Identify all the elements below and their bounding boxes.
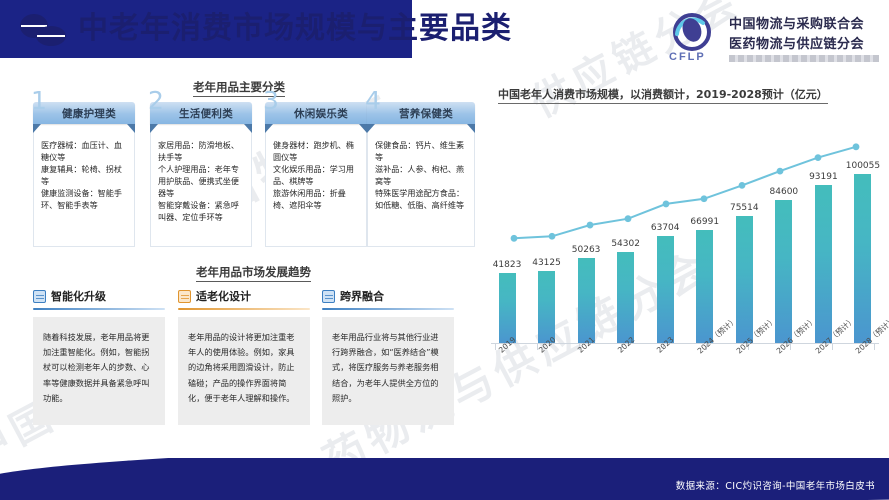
- bar-value-label: 93191: [809, 172, 838, 182]
- pill-logo-icon: [18, 14, 70, 46]
- bar: [499, 273, 516, 344]
- trend-card[interactable]: 智能化升级 随着科技发展，老年用品将更加注重智能化。例如，智能拐杖可以检测老年人…: [33, 286, 165, 425]
- bar-value-label: 66991: [690, 217, 719, 227]
- chart-bar-column: 43125: [535, 104, 559, 344]
- x-tick-label: 2023: [653, 346, 677, 394]
- category-number: 1: [31, 88, 47, 113]
- trend-body: 老年用品的设计将更加注重老年人的使用体验。例如，家具的边角将采用圆滑设计，防止磕…: [178, 317, 310, 425]
- ribbon-tab-left: [33, 124, 41, 133]
- category-body: 保健食品：钙片、维生素等滋补品：人参、枸杞、燕窝等特殊医学用途配方食品：如低糖、…: [367, 124, 475, 247]
- trend-title: 智能化升级: [51, 288, 106, 304]
- data-source: 数据来源：CIC灼识咨询-中国老年市场白皮书: [676, 478, 875, 492]
- category-text: 家居用品：防滑地板、扶手等个人护理用品：老年专用护肤品、便携式坐便器等智能穿戴设…: [158, 140, 244, 224]
- bar-value-label: 63704: [651, 223, 680, 233]
- chart-bar-column: 66991: [693, 104, 717, 344]
- category-number: 2: [148, 88, 164, 113]
- trend-header: 智能化升级: [33, 286, 165, 306]
- bar: [617, 252, 634, 344]
- trend-body: 随着科技发展，老年用品将更加注重智能化。例如，智能拐杖可以检测老年人的步数、心率…: [33, 317, 165, 425]
- ribbon-tab-right: [359, 124, 367, 133]
- chart-bar-column: 54302: [614, 104, 638, 344]
- bar: [578, 258, 595, 344]
- bar-value-label: 54302: [611, 239, 640, 249]
- trend-text: 随着科技发展，老年用品将更加注重智能化。例如，智能拐杖可以检测老年人的步数、心率…: [43, 330, 155, 406]
- category-card[interactable]: 2 生活便利类 家居用品：防滑地板、扶手等个人护理用品：老年专用护肤品、便携式坐…: [150, 102, 252, 247]
- category-title: 营养保健类: [389, 106, 453, 121]
- trend-text: 老年用品行业将与其他行业进行跨界融合，如“医养结合”模式，将医疗服务与养老服务相…: [332, 330, 444, 406]
- logo-english-strip: [729, 55, 879, 62]
- calendar-icon: [178, 290, 191, 303]
- trend-title: 适老化设计: [196, 288, 251, 304]
- category-card[interactable]: 4 营养保健类 保健食品：钙片、维生素等滋补品：人参、枸杞、燕窝等特殊医学用途配…: [367, 102, 475, 247]
- trend-header: 跨界融合: [322, 286, 454, 306]
- cflp-abbr: CFLP: [669, 51, 706, 63]
- category-title: 休闲娱乐类: [284, 106, 348, 121]
- category-number: 4: [365, 88, 381, 113]
- bar-value-label: 84600: [770, 187, 799, 197]
- chart-bar-column: 75514: [732, 104, 756, 344]
- trend-divider: [178, 308, 310, 310]
- category-header: 生活便利类: [150, 102, 252, 124]
- ribbon-tab-left: [150, 124, 158, 133]
- category-header: 营养保健类: [367, 102, 475, 124]
- bar-value-label: 100055: [846, 161, 880, 171]
- slide-root: 中国物流与 药物流与供应链分会 供应链分会 中国物流 中老年消费市场规模与主要品…: [0, 0, 889, 500]
- trend-text: 老年用品的设计将更加注重老年人的使用体验。例如，家具的边角将采用圆滑设计，防止磕…: [188, 330, 300, 406]
- trend-divider: [33, 308, 165, 310]
- footer: 数据来源：CIC灼识咨询-中国老年市场白皮书: [0, 458, 889, 500]
- ribbon-tab-right: [127, 124, 135, 133]
- chart-bar-column: 84600: [772, 104, 796, 344]
- x-tick-label: 2021: [574, 346, 598, 394]
- x-axis-labels: 201920202021202220232024（预计）2025（预计）2026…: [495, 346, 875, 394]
- trend-divider: [322, 308, 454, 310]
- category-text: 保健食品：钙片、维生素等滋补品：人参、枸杞、燕窝等特殊医学用途配方食品：如低糖、…: [375, 140, 467, 212]
- category-body: 家居用品：防滑地板、扶手等个人护理用品：老年专用护肤品、便携式坐便器等智能穿戴设…: [150, 124, 252, 247]
- bar: [736, 216, 753, 345]
- trend-body: 老年用品行业将与其他行业进行跨界融合，如“医养结合”模式，将医疗服务与养老服务相…: [322, 317, 454, 425]
- ribbon-tab-left: [265, 124, 273, 133]
- cflp-logo: CFLP 中国物流与采购联合会 医药物流与供应链分会: [665, 12, 879, 62]
- bar-value-label: 41823: [493, 260, 522, 270]
- x-tick-label: 2026（预计）: [772, 346, 796, 394]
- category-body: 健身器材：跑步机、椭圆仪等文化娱乐用品：学习用品、棋牌等旅游休闲用品：折叠椅、遮…: [265, 124, 367, 247]
- logo-line-2: 医药物流与供应链分会: [729, 33, 879, 52]
- page-title: 中老年消费市场规模与主要品类: [78, 9, 512, 49]
- trend-card[interactable]: 适老化设计 老年用品的设计将更加注重老年人的使用体验。例如，家具的边角将采用圆滑…: [178, 286, 310, 425]
- market-size-chart: 4182343125502635430263704669917551484600…: [487, 104, 879, 394]
- category-header: 健康护理类: [33, 102, 135, 124]
- bar-value-label: 50263: [572, 245, 601, 255]
- category-title: 生活便利类: [169, 106, 233, 121]
- x-tick-label: 2020: [535, 346, 559, 394]
- chart-bar-column: 93191: [811, 104, 835, 344]
- trend-header: 适老化设计: [178, 286, 310, 306]
- category-text: 健身器材：跑步机、椭圆仪等文化娱乐用品：学习用品、棋牌等旅游休闲用品：折叠椅、遮…: [273, 140, 359, 212]
- x-tick-label: 2027（预计）: [811, 346, 835, 394]
- ribbon-tab-right: [467, 124, 475, 133]
- x-tick-label: 2028（预计）: [851, 346, 875, 394]
- logo-line-1: 中国物流与采购联合会: [729, 13, 879, 32]
- chart-bar-column: 50263: [574, 104, 598, 344]
- chart-plot-area: 4182343125502635430263704669917551484600…: [495, 104, 875, 344]
- bar: [815, 185, 832, 344]
- category-card[interactable]: 1 健康护理类 医疗器械：血压计、血糖仪等康复辅具：轮椅、拐杖等健康监测设备：智…: [33, 102, 135, 247]
- category-text: 医疗器械：血压计、血糖仪等康复辅具：轮椅、拐杖等健康监测设备：智能手环、智能手表…: [41, 140, 127, 212]
- category-title: 健康护理类: [52, 106, 116, 121]
- category-card[interactable]: 3 休闲娱乐类 健身器材：跑步机、椭圆仪等文化娱乐用品：学习用品、棋牌等旅游休闲…: [265, 102, 367, 247]
- category-number: 3: [263, 88, 279, 113]
- calendar-icon: [33, 290, 46, 303]
- chart-title: 中国老年人消费市场规模，以消费额计，2019-2028预计（亿元）: [498, 86, 828, 104]
- chart-bar-column: 41823: [495, 104, 519, 344]
- cflp-mark-icon: CFLP: [665, 12, 721, 62]
- category-header: 休闲娱乐类: [265, 102, 367, 124]
- bar: [657, 236, 674, 344]
- trend-card[interactable]: 跨界融合 老年用品行业将与其他行业进行跨界融合，如“医养结合”模式，将医疗服务与…: [322, 286, 454, 425]
- x-tick-label: 2019: [495, 346, 519, 394]
- x-tick-label: 2022: [614, 346, 638, 394]
- trends-heading: 老年用品市场发展趋势: [196, 264, 311, 282]
- bar-value-label: 43125: [532, 258, 561, 268]
- bar-value-label: 75514: [730, 203, 759, 213]
- bar: [854, 174, 871, 344]
- chart-bar-column: 100055: [851, 104, 875, 344]
- calendar-icon: [322, 290, 335, 303]
- trend-title: 跨界融合: [340, 288, 384, 304]
- x-tick-label: 2024（预计）: [693, 346, 717, 394]
- bar: [538, 271, 555, 344]
- category-body: 医疗器械：血压计、血糖仪等康复辅具：轮椅、拐杖等健康监测设备：智能手环、智能手表…: [33, 124, 135, 247]
- ribbon-tab-right: [244, 124, 252, 133]
- chart-bars: 4182343125502635430263704669917551484600…: [495, 104, 875, 344]
- chart-bar-column: 63704: [653, 104, 677, 344]
- x-tick-label: 2025（预计）: [732, 346, 756, 394]
- bar: [696, 230, 713, 344]
- ribbon-tab-left: [367, 124, 375, 133]
